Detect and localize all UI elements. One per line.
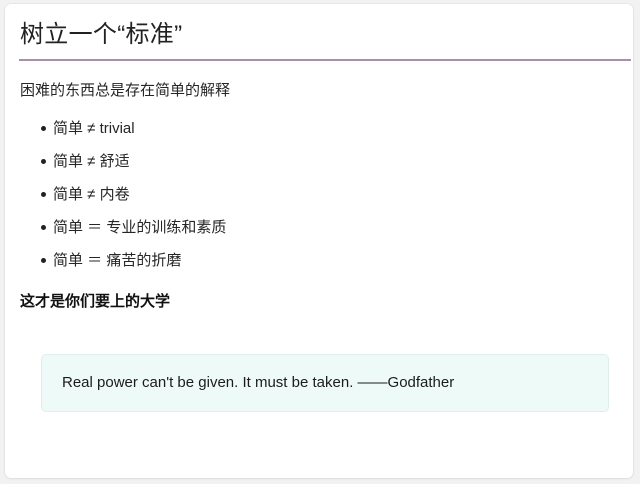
intro-paragraph: 困难的东西总是存在简单的解释 xyxy=(20,79,230,103)
list-item-label: 简单 ＝ 痛苦的折磨 xyxy=(53,252,181,269)
list-item: 简单 ＝ 痛苦的折磨 xyxy=(20,244,610,277)
slide-content: 树立一个“标准” 困难的东西总是存在简单的解释 简单 ≠ trivial 简单 … xyxy=(5,4,633,478)
list-item-label: 简单 ≠ 舒适 xyxy=(53,153,130,170)
emphasis-statement: 这才是你们要上的大学 xyxy=(20,290,170,314)
title-divider xyxy=(19,59,631,61)
quote-text: Real power can't be given. It must be ta… xyxy=(42,372,454,394)
list-item: 简单 ≠ 内卷 xyxy=(20,178,610,211)
bullet-dot-icon xyxy=(41,258,46,263)
list-item: 简单 ≠ 舒适 xyxy=(20,145,610,178)
quote-callout: Real power can't be given. It must be ta… xyxy=(41,354,609,412)
list-item-label: 简单 ≠ 内卷 xyxy=(53,186,130,203)
list-item-label: 简单 ＝ 专业的训练和素质 xyxy=(53,219,226,236)
bullet-dot-icon xyxy=(41,159,46,164)
slide-card: 树立一个“标准” 困难的东西总是存在简单的解释 简单 ≠ trivial 简单 … xyxy=(5,4,633,478)
list-item: 简单 ≠ trivial xyxy=(20,112,610,145)
list-item-label: 简单 ≠ trivial xyxy=(53,120,135,137)
page-title: 树立一个“标准” xyxy=(20,18,618,52)
bullet-dot-icon xyxy=(41,192,46,197)
bullet-dot-icon xyxy=(41,126,46,131)
bullet-list: 简单 ≠ trivial 简单 ≠ 舒适 简单 ≠ 内卷 简单 ＝ 专业的训练和… xyxy=(20,112,610,277)
bullet-dot-icon xyxy=(41,225,46,230)
list-item: 简单 ＝ 专业的训练和素质 xyxy=(20,211,610,244)
